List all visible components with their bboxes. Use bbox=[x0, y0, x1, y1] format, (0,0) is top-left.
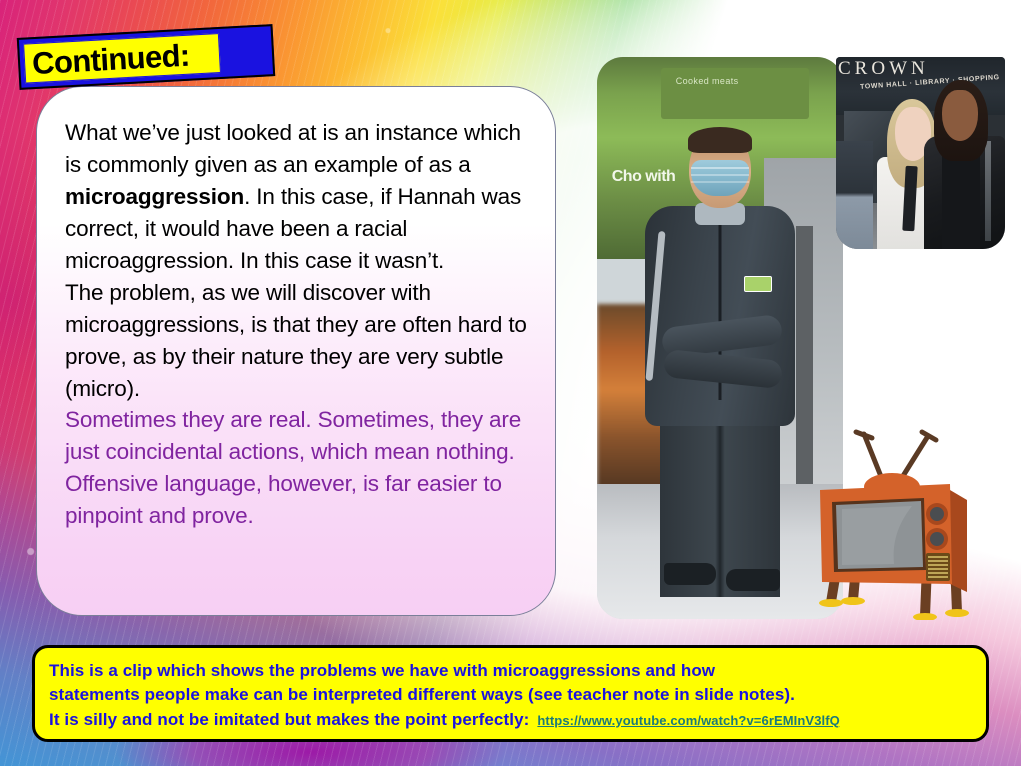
guard-photo-pillar bbox=[796, 226, 813, 485]
main-text-panel: What we’ve just looked at is an instance… bbox=[36, 86, 556, 616]
note-line-two: statements people make can be interprete… bbox=[49, 683, 972, 707]
retro-television-clipart bbox=[812, 424, 982, 620]
note-line-three-text: It is silly and not be imitated but make… bbox=[49, 710, 529, 729]
guard-photo-left-shoe bbox=[664, 563, 716, 585]
paragraph-three: Sometimes they are real. Sometimes, they… bbox=[65, 404, 533, 532]
guard-photo-hair bbox=[688, 127, 752, 153]
guard-photo-mask-pleats bbox=[691, 167, 749, 169]
paragraph-two: The problem, as we will discover with mi… bbox=[65, 277, 533, 405]
two-schoolgirls-photo: CROWN TOWN HALL · LIBRARY · SHOPPING bbox=[836, 57, 1005, 249]
slide-canvas: Continued: What we’ve just looked at is … bbox=[0, 0, 1021, 766]
supermarket-security-guard-photo: Cooked meats Cho with bbox=[597, 57, 843, 619]
term-microaggression: microaggression bbox=[65, 184, 244, 209]
title-highlight-box: Continued: bbox=[23, 33, 221, 84]
girls-photo-jacket-zip bbox=[985, 141, 992, 241]
tv-icon bbox=[812, 424, 982, 620]
youtube-link[interactable]: https://www.youtube.com/watch?v=6rEMInV3… bbox=[537, 713, 840, 728]
guard-photo-promo-text: Cho with bbox=[612, 169, 676, 186]
guard-photo-name-badge bbox=[744, 276, 772, 292]
paragraph-one: What we’ve just looked at is an instance… bbox=[65, 117, 533, 277]
guard-photo-right-shoe bbox=[726, 569, 780, 591]
page-title: Continued: bbox=[24, 39, 190, 79]
note-line-one: This is a clip which shows the problems … bbox=[49, 659, 972, 683]
girls-photo-background-person bbox=[836, 141, 873, 249]
girls-photo-crown-sign: CROWN bbox=[838, 58, 929, 80]
guard-photo-aisle-sign-label: Cooked meats bbox=[676, 76, 739, 86]
girls-photo-second-top bbox=[942, 149, 979, 249]
note-line-three: It is silly and not be imitated but make… bbox=[49, 708, 972, 732]
paragraph-one-lead: What we’ve just looked at is an instance… bbox=[65, 120, 521, 177]
teacher-note-banner: This is a clip which shows the problems … bbox=[32, 645, 989, 742]
